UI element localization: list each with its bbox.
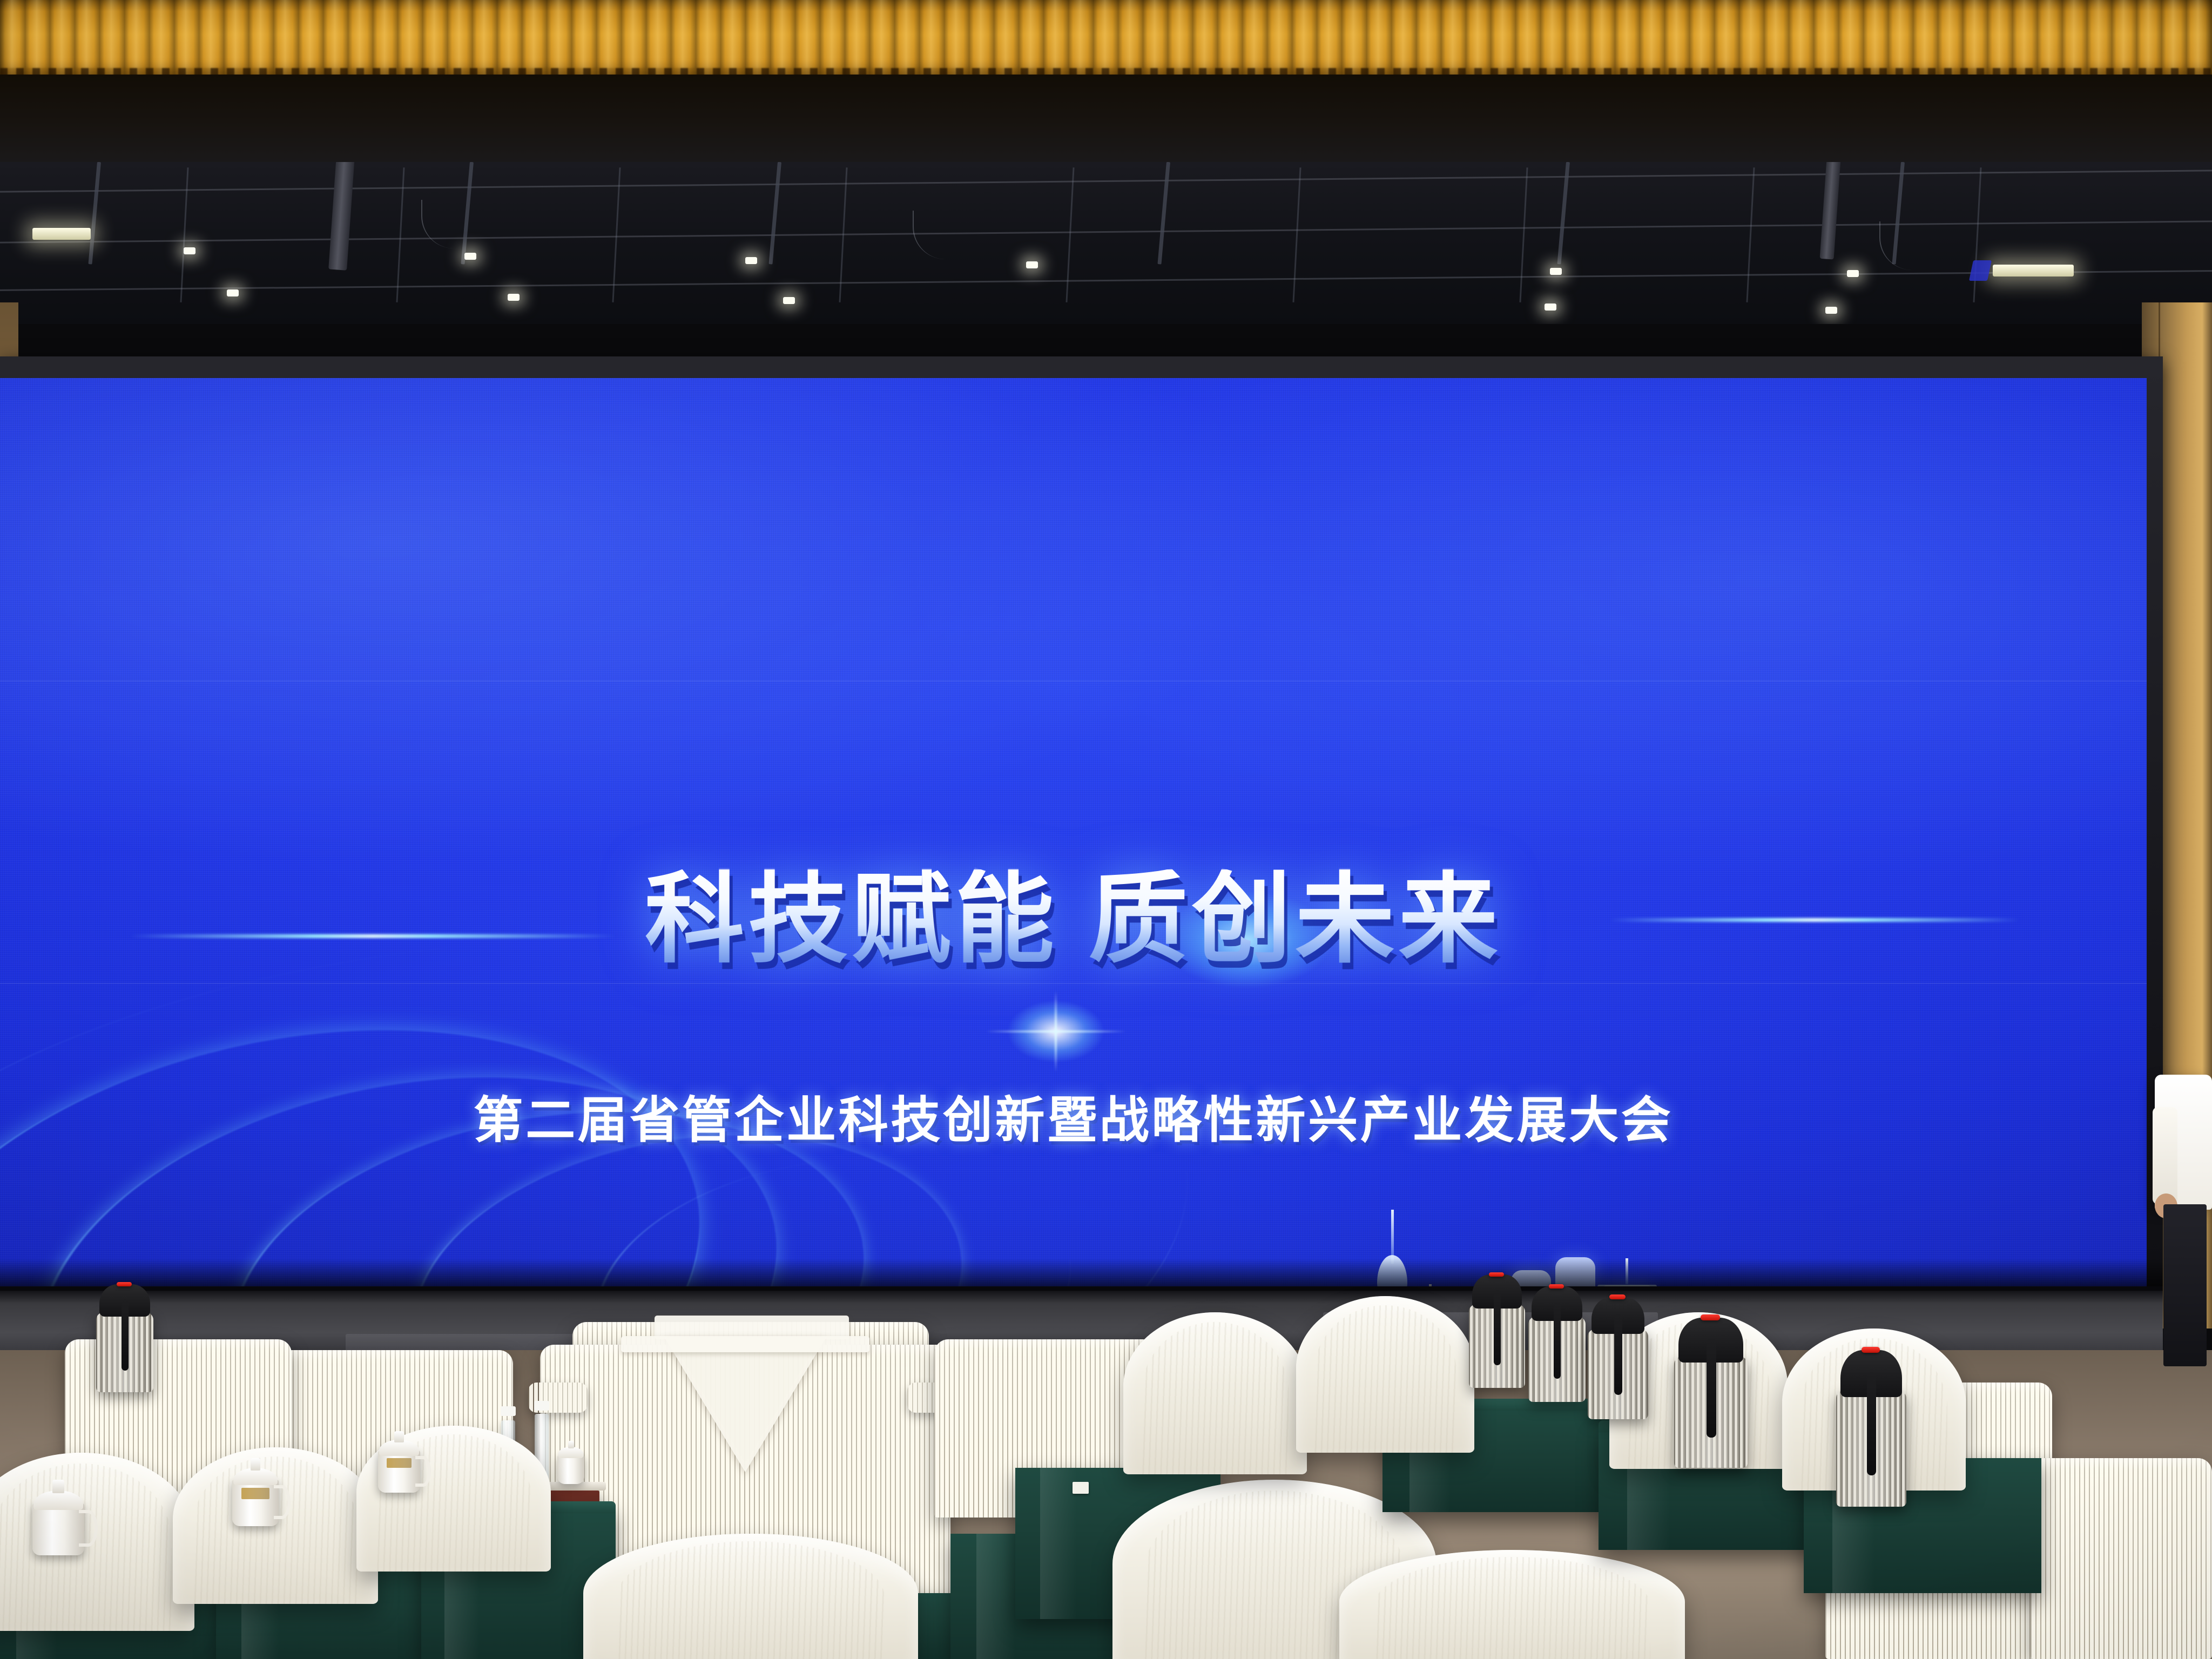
flask-handle — [1554, 1303, 1561, 1379]
headline-part-1: 科技赋能 — [645, 861, 1058, 977]
truss-vertical — [1973, 167, 1981, 302]
ceiling-spotlight — [464, 253, 476, 260]
truss-rail — [0, 269, 2212, 291]
flask-red-button — [1609, 1294, 1626, 1299]
truss-hanger — [1157, 162, 1170, 265]
ceiling-spotlight — [783, 297, 795, 304]
chair-cover — [1296, 1296, 1474, 1453]
truss-vertical — [1065, 167, 1074, 302]
ceiling-dark-band — [0, 75, 2212, 172]
flask-handle — [1707, 1339, 1716, 1438]
chair-cover — [1123, 1312, 1307, 1474]
truss-vertical — [1519, 167, 1528, 302]
ceiling-spotlight — [227, 289, 239, 296]
hanging-cable — [1879, 221, 1929, 270]
chair-cover — [1339, 1550, 1685, 1659]
truss-hanger — [88, 162, 101, 265]
flask-red-button — [1549, 1284, 1564, 1289]
table-number-card — [1073, 1482, 1089, 1494]
led-display-wall: 科技赋能质创未来 第二届省管企业科技创新暨战略性新兴产业发展大会 主办单位：河南… — [0, 378, 2147, 1291]
porcelain-teacup — [557, 1441, 584, 1484]
ceiling-spotlight — [745, 257, 757, 264]
truss-support-beam — [328, 162, 360, 271]
lace-antimacassar-strip — [621, 1336, 869, 1352]
teacup-body — [378, 1449, 420, 1493]
event-subtitle: 第二届省管企业科技创新暨战略性新兴产业发展大会 — [0, 1080, 2147, 1152]
teacup-logo — [241, 1488, 269, 1499]
porcelain-teacup — [378, 1431, 420, 1493]
teacup-knob — [251, 1458, 261, 1471]
stage-armchair-edge — [2031, 1458, 2212, 1659]
truss-rail — [0, 170, 2212, 193]
teacup-lid — [558, 1447, 584, 1458]
hanging-cable — [913, 211, 973, 259]
vacuum-flask — [1469, 1274, 1525, 1388]
ceiling-strip-light — [1993, 265, 2074, 276]
flask-red-button — [1701, 1314, 1720, 1320]
teacup-knob — [52, 1480, 64, 1493]
vacuum-flask — [1674, 1318, 1748, 1468]
teacup-knob — [568, 1441, 574, 1448]
bottle-cap — [501, 1406, 516, 1416]
flask-handle — [122, 1299, 129, 1371]
teacup-lid — [33, 1491, 83, 1510]
ceiling-spotlight — [508, 294, 520, 301]
chair-cover — [583, 1534, 918, 1659]
vacuum-flask — [1836, 1350, 1906, 1507]
led-panel-seam — [0, 680, 2147, 682]
truss-hanger — [768, 162, 781, 265]
teacup-body — [232, 1479, 279, 1526]
teacup-handle — [79, 1510, 98, 1547]
flask-handle — [1614, 1314, 1622, 1395]
chair-cover — [0, 1453, 194, 1631]
vacuum-flask — [1528, 1286, 1586, 1402]
ceiling-spotlight — [1825, 307, 1837, 314]
vacuum-flask — [1588, 1297, 1648, 1419]
teacup-logo — [387, 1458, 412, 1468]
standing-person-trousers — [2163, 1204, 2207, 1366]
event-headline: 科技赋能质创未来 — [0, 869, 2147, 969]
standing-person-arm — [2153, 1107, 2177, 1204]
truss-vertical — [1292, 167, 1301, 302]
bottle-cap — [534, 1401, 549, 1411]
flask-red-button — [1489, 1272, 1503, 1277]
blue-gel-light — [1969, 260, 1992, 281]
teacup-body — [32, 1502, 84, 1555]
headline-part-2: 质创未来 — [1089, 861, 1502, 977]
porcelain-teacup — [32, 1480, 84, 1555]
teacup-body — [557, 1454, 584, 1484]
flask-red-button — [117, 1282, 132, 1286]
conference-hall-photo: 科技赋能质创未来 第二届省管企业科技创新暨战略性新兴产业发展大会 主办单位：河南… — [0, 0, 2212, 1659]
ceiling-strip-light — [32, 228, 91, 240]
teacup-knob — [394, 1431, 403, 1442]
lace-antimacassar — [664, 1337, 826, 1472]
ceiling-spotlight — [1026, 261, 1038, 268]
ceiling-spotlight — [184, 247, 195, 254]
gold-stage-curtain — [0, 0, 2212, 82]
vacuum-flask — [96, 1284, 153, 1392]
ceiling-spotlight — [1550, 268, 1562, 275]
flask-handle — [1494, 1290, 1501, 1365]
lighting-truss — [0, 162, 2212, 324]
flask-handle — [1867, 1372, 1876, 1475]
ceiling-spotlight — [1545, 304, 1556, 311]
truss-support-beam — [1820, 162, 1845, 260]
porcelain-teacup — [232, 1458, 279, 1526]
truss-vertical — [180, 167, 188, 302]
truss-vertical — [612, 167, 621, 302]
ceiling-spotlight — [1847, 270, 1859, 277]
hanging-cable — [421, 200, 466, 248]
truss-vertical — [1746, 167, 1755, 302]
flask-red-button — [1862, 1347, 1880, 1353]
